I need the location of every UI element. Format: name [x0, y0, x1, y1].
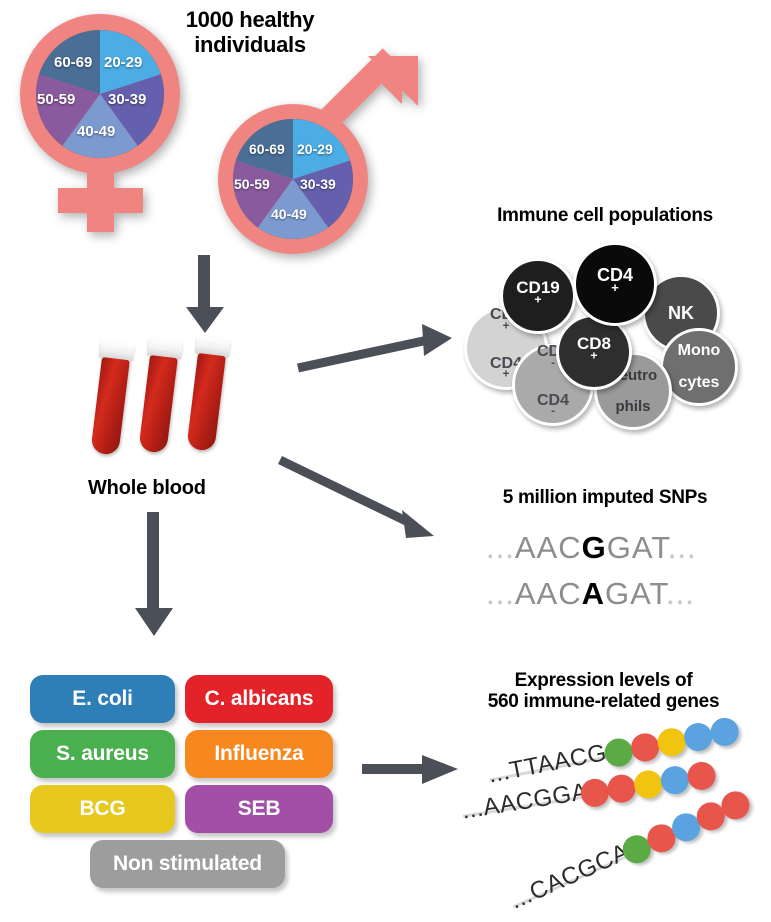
snp-row1-right: GAT — [607, 530, 668, 565]
immune-cell-cd8-label: CD8+ — [577, 335, 611, 370]
age-pie-male-svg — [233, 119, 353, 239]
snp-row2-prefix: ... — [486, 576, 515, 611]
blood-tube — [186, 336, 231, 452]
stimulation-seb[interactable]: SEB — [185, 785, 333, 833]
strand-2-bead — [659, 764, 691, 796]
stimulation-saureus[interactable]: S. aureus — [30, 730, 175, 778]
strand-1-bead — [655, 726, 688, 759]
strand-1-bead — [629, 731, 662, 764]
male-symbol: 20-29 30-39 40-49 50-59 60-69 — [200, 60, 420, 260]
arrow-blood-to-stimulations — [131, 512, 177, 638]
immune-cell-nk-label: NK — [668, 304, 694, 322]
immune-cell-cd4: CD4+ — [573, 242, 657, 326]
female-symbol: 20-29 30-39 40-49 50-59 60-69 — [8, 8, 193, 233]
section-title-expression: Expression levels of 560 immune-related … — [436, 670, 771, 713]
immune-cell-mono-line2: cytes — [678, 375, 721, 391]
arrow-blood-to-immune — [296, 318, 456, 380]
snp-sequence-row-1: ...AACGGAT... — [486, 530, 697, 566]
stimulation-bcg-label: BCG — [79, 797, 125, 821]
section-title-immune-cells: Immune cell populations — [440, 205, 770, 226]
strand-2-bead — [632, 768, 664, 800]
strand-2-bead — [686, 760, 718, 792]
snp-row1-suffix: ... — [668, 530, 697, 565]
male-symbol-arrowhead — [352, 52, 422, 122]
strand-2-bead — [606, 773, 638, 805]
blood-tube — [90, 340, 135, 456]
stimulation-saureus-label: S. aureus — [56, 742, 149, 766]
female-symbol-crossbar — [58, 188, 143, 213]
blood-tube-body — [90, 357, 129, 456]
stimulation-ecoli[interactable]: E. coli — [30, 675, 175, 723]
snp-row1-variant: G — [582, 530, 607, 565]
blood-tube — [138, 338, 183, 454]
snp-row2-right: GAT — [605, 576, 666, 611]
expression-title-line1: Expression levels of — [436, 670, 771, 691]
blood-tube-body — [186, 353, 225, 452]
blood-tube-body — [138, 355, 177, 454]
stimulation-calbicans[interactable]: C. albicans — [185, 675, 333, 723]
age-pie-female: 20-29 30-39 40-49 50-59 60-69 — [36, 30, 164, 158]
stimulation-ecoli-label: E. coli — [72, 687, 132, 711]
arrow-cohort-to-blood — [182, 255, 228, 335]
snp-row2-suffix: ... — [666, 576, 695, 611]
stimulation-bcg[interactable]: BCG — [30, 785, 175, 833]
arrow-stimulations-to-expression — [362, 750, 462, 790]
age-pie-female-svg — [36, 30, 164, 158]
snp-sequences: ...AACGGAT... ...AACAGAT... — [486, 530, 756, 620]
expression-strands: ...TTAACGG ...AACGGAT ...CACGCAA — [470, 740, 770, 920]
immune-cell-cd19: CD19+ — [500, 258, 576, 334]
snp-row1-prefix: ... — [486, 530, 515, 565]
immune-cell-neutro-line2: phils — [609, 399, 657, 414]
snp-row1-left: AAC — [515, 530, 582, 565]
stimulation-influenza[interactable]: Influenza — [185, 730, 333, 778]
stimulation-calbicans-label: C. albicans — [205, 687, 314, 711]
immune-cell-mono-line1: Mono — [678, 343, 721, 359]
snp-sequence-row-2: ...AACAGAT... — [486, 576, 695, 612]
snp-row2-left: AAC — [515, 576, 582, 611]
whole-blood-label: Whole blood — [88, 477, 206, 500]
immune-cell-cd8neg-line2: CD4- — [537, 393, 569, 426]
expression-title-line2: 560 immune-related genes — [436, 691, 771, 712]
strand-1-bead — [708, 715, 741, 748]
section-title-snps: 5 million imputed SNPs — [440, 487, 770, 508]
arrow-blood-to-snps — [256, 440, 446, 550]
age-pie-male: 20-29 30-39 40-49 50-59 60-69 — [233, 119, 353, 239]
immune-cell-cluster: CD19+ CD4+ NK CD8+ CD4+ CD8+ Mono cytes — [460, 240, 760, 420]
strand-1-bead — [682, 721, 715, 754]
stimulation-seb-label: SEB — [238, 797, 281, 821]
male-symbol-ring: 20-29 30-39 40-49 50-59 60-69 — [218, 104, 368, 254]
whole-blood-tubes — [96, 332, 276, 462]
immune-cell-cd19-label: CD19+ — [516, 279, 559, 314]
immune-cell-cd4-label: CD4+ — [597, 266, 633, 303]
stimulation-non-stimulated[interactable]: Non stimulated — [90, 840, 285, 888]
strand-2-sequence: ...AACGGAT — [460, 776, 603, 826]
female-symbol-ring: 20-29 30-39 40-49 50-59 60-69 — [20, 14, 180, 174]
stimulation-influenza-label: Influenza — [214, 742, 303, 766]
snp-row2-variant: A — [582, 576, 605, 611]
stimulation-non-stimulated-label: Non stimulated — [113, 852, 262, 876]
stimulation-panel: E. coli C. albicans S. aureus Influenza … — [30, 675, 340, 895]
